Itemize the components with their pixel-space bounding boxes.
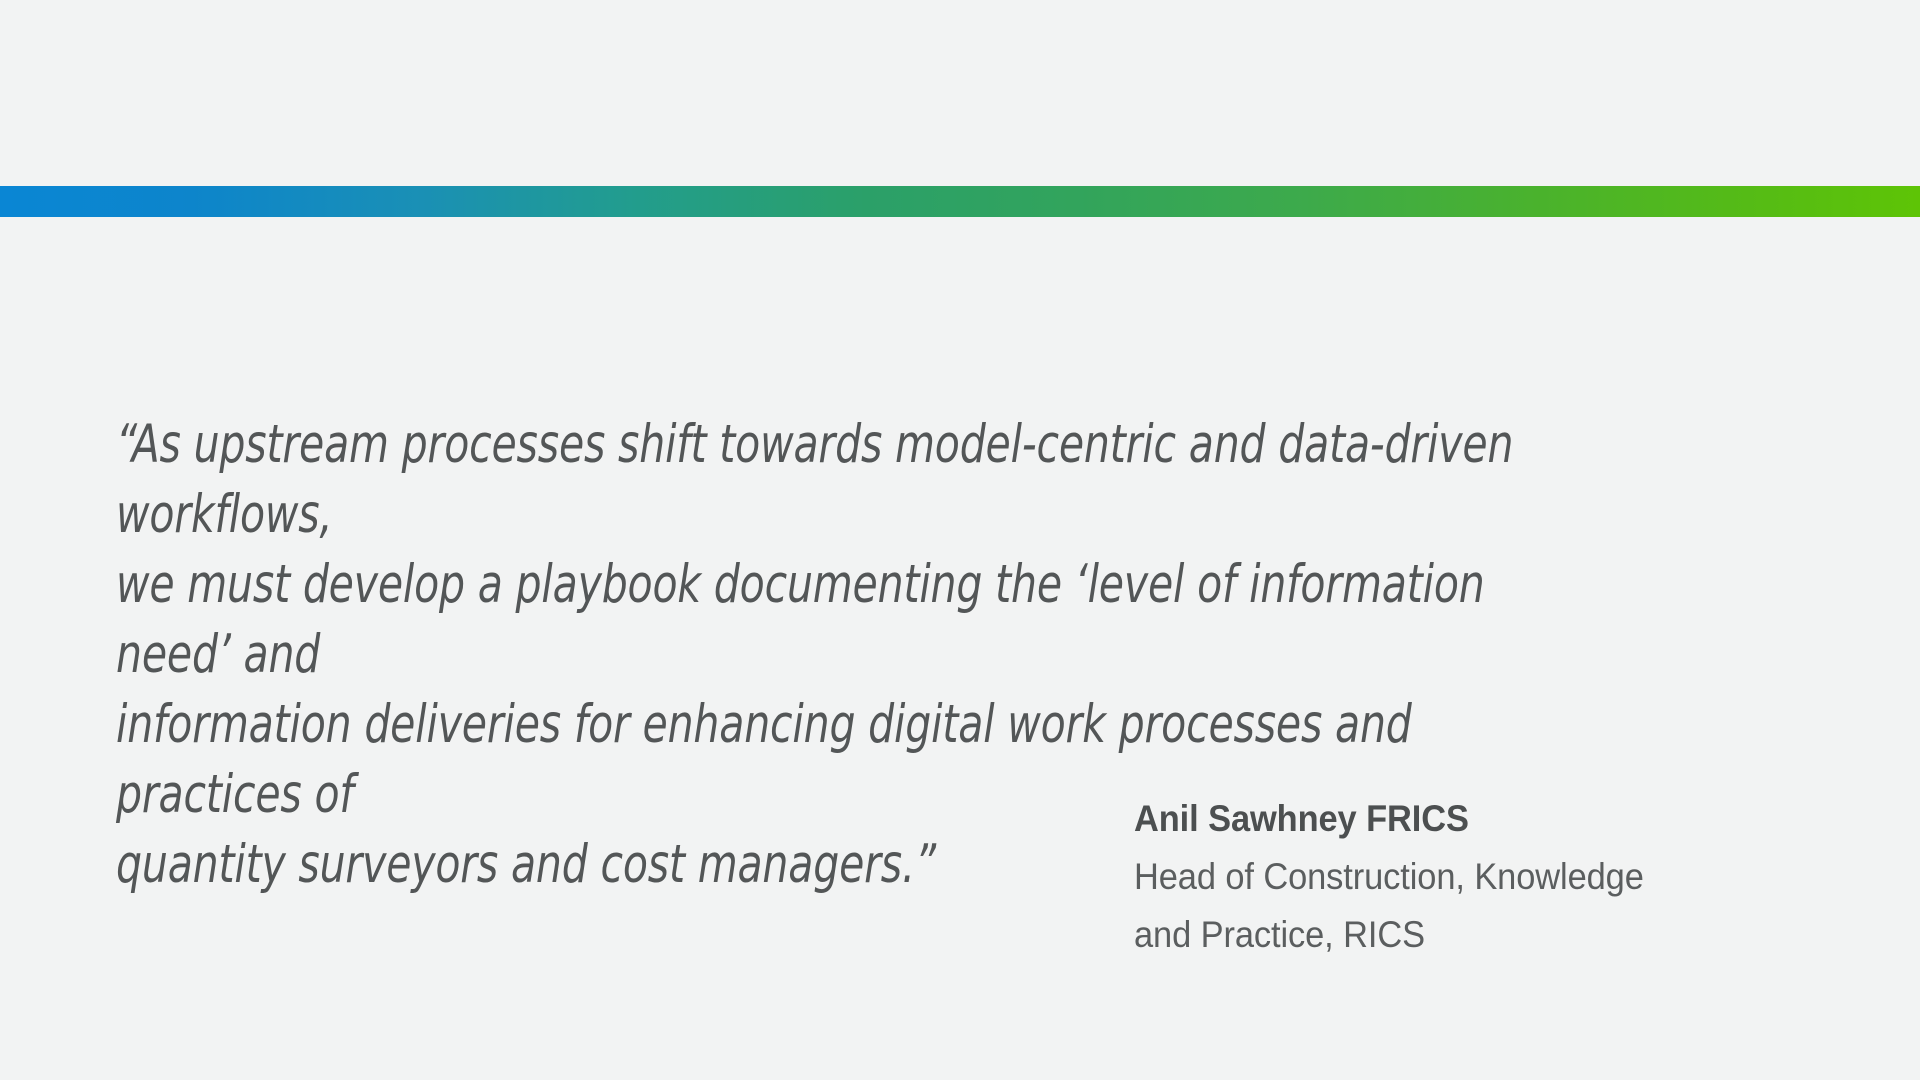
gradient-accent-bar [0, 186, 1920, 217]
quote-slide: “As upstream processes shift towards mod… [0, 0, 1920, 1080]
attribution-block: Anil Sawhney FRICS Head of Construction,… [1134, 790, 1834, 964]
attribution-name: Anil Sawhney FRICS [1134, 790, 1785, 848]
attribution-role: Head of Construction, Knowledge and Prac… [1134, 848, 1785, 964]
